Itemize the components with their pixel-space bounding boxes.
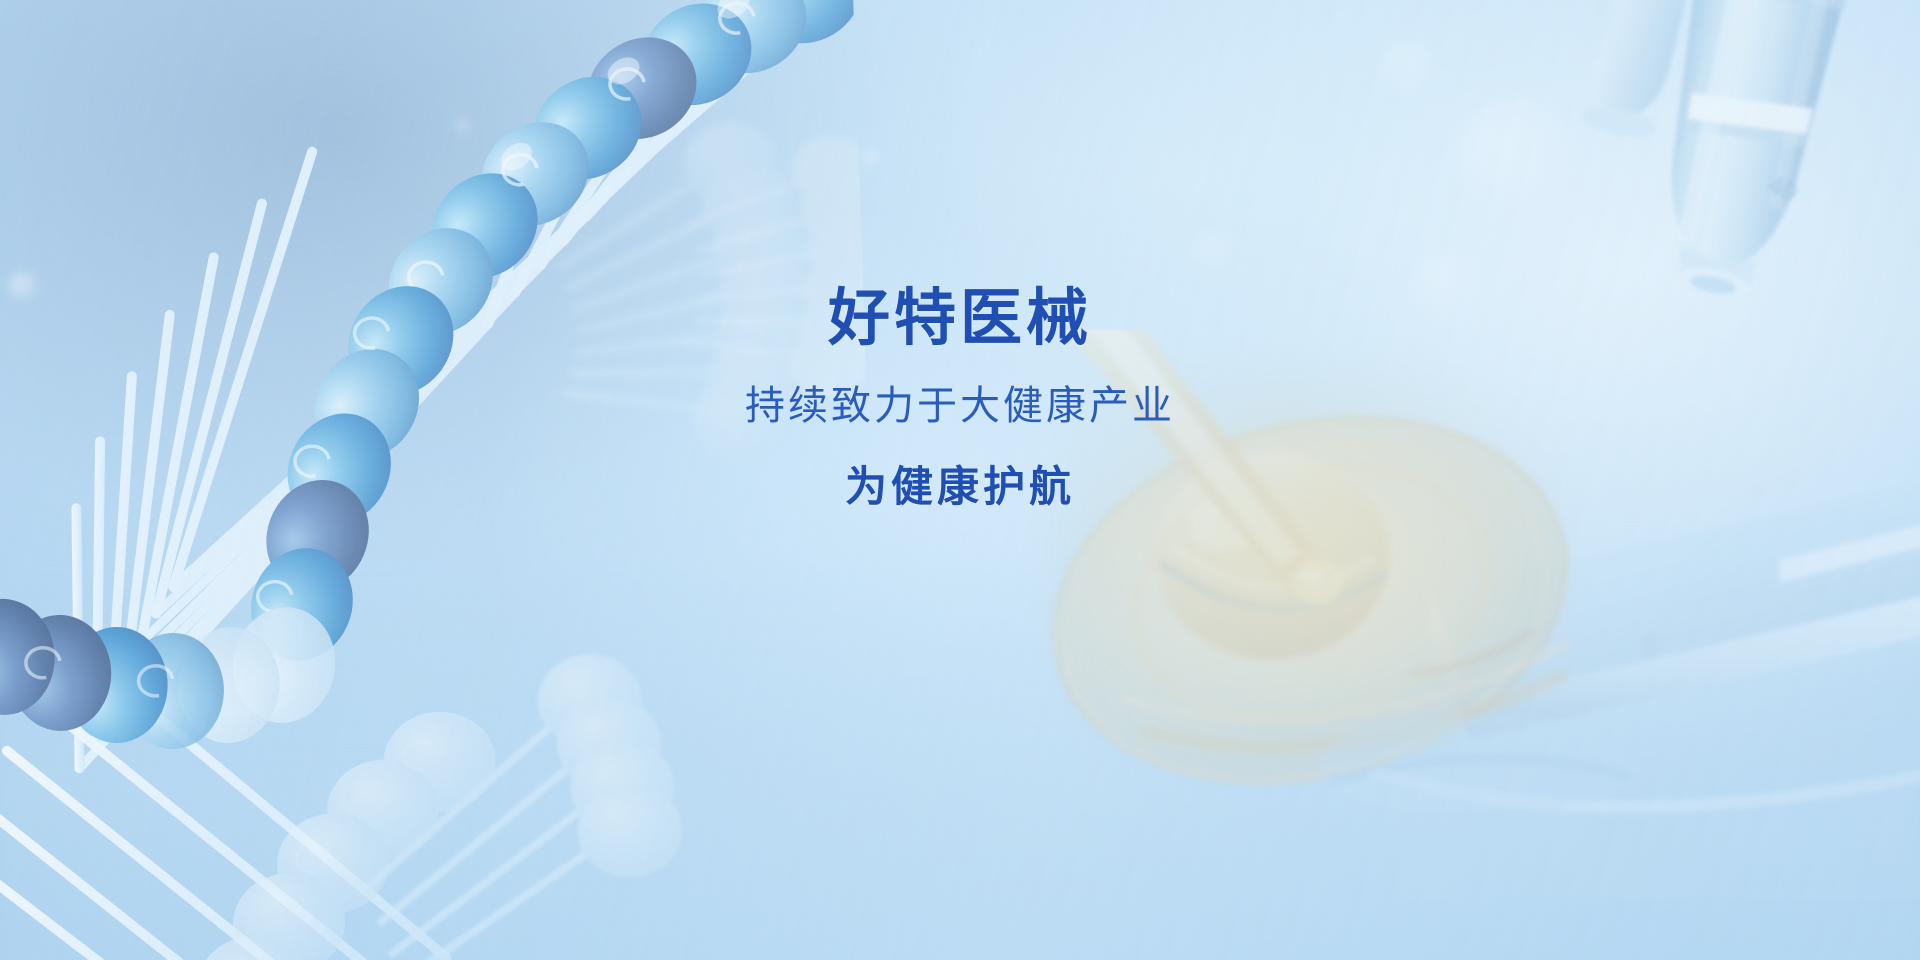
page-title: 好特医械 [0, 288, 1920, 350]
banner-tagline: 为健康护航 [0, 466, 1920, 508]
bokeh-circle [860, 148, 882, 170]
bokeh-circle [1190, 230, 1236, 276]
hero-banner: 40 [0, 0, 1920, 960]
banner-copy: 好特医械 持续致力于大健康产业 为健康护航 [0, 288, 1920, 508]
banner-subtitle: 持续致力于大健康产业 [0, 386, 1920, 426]
